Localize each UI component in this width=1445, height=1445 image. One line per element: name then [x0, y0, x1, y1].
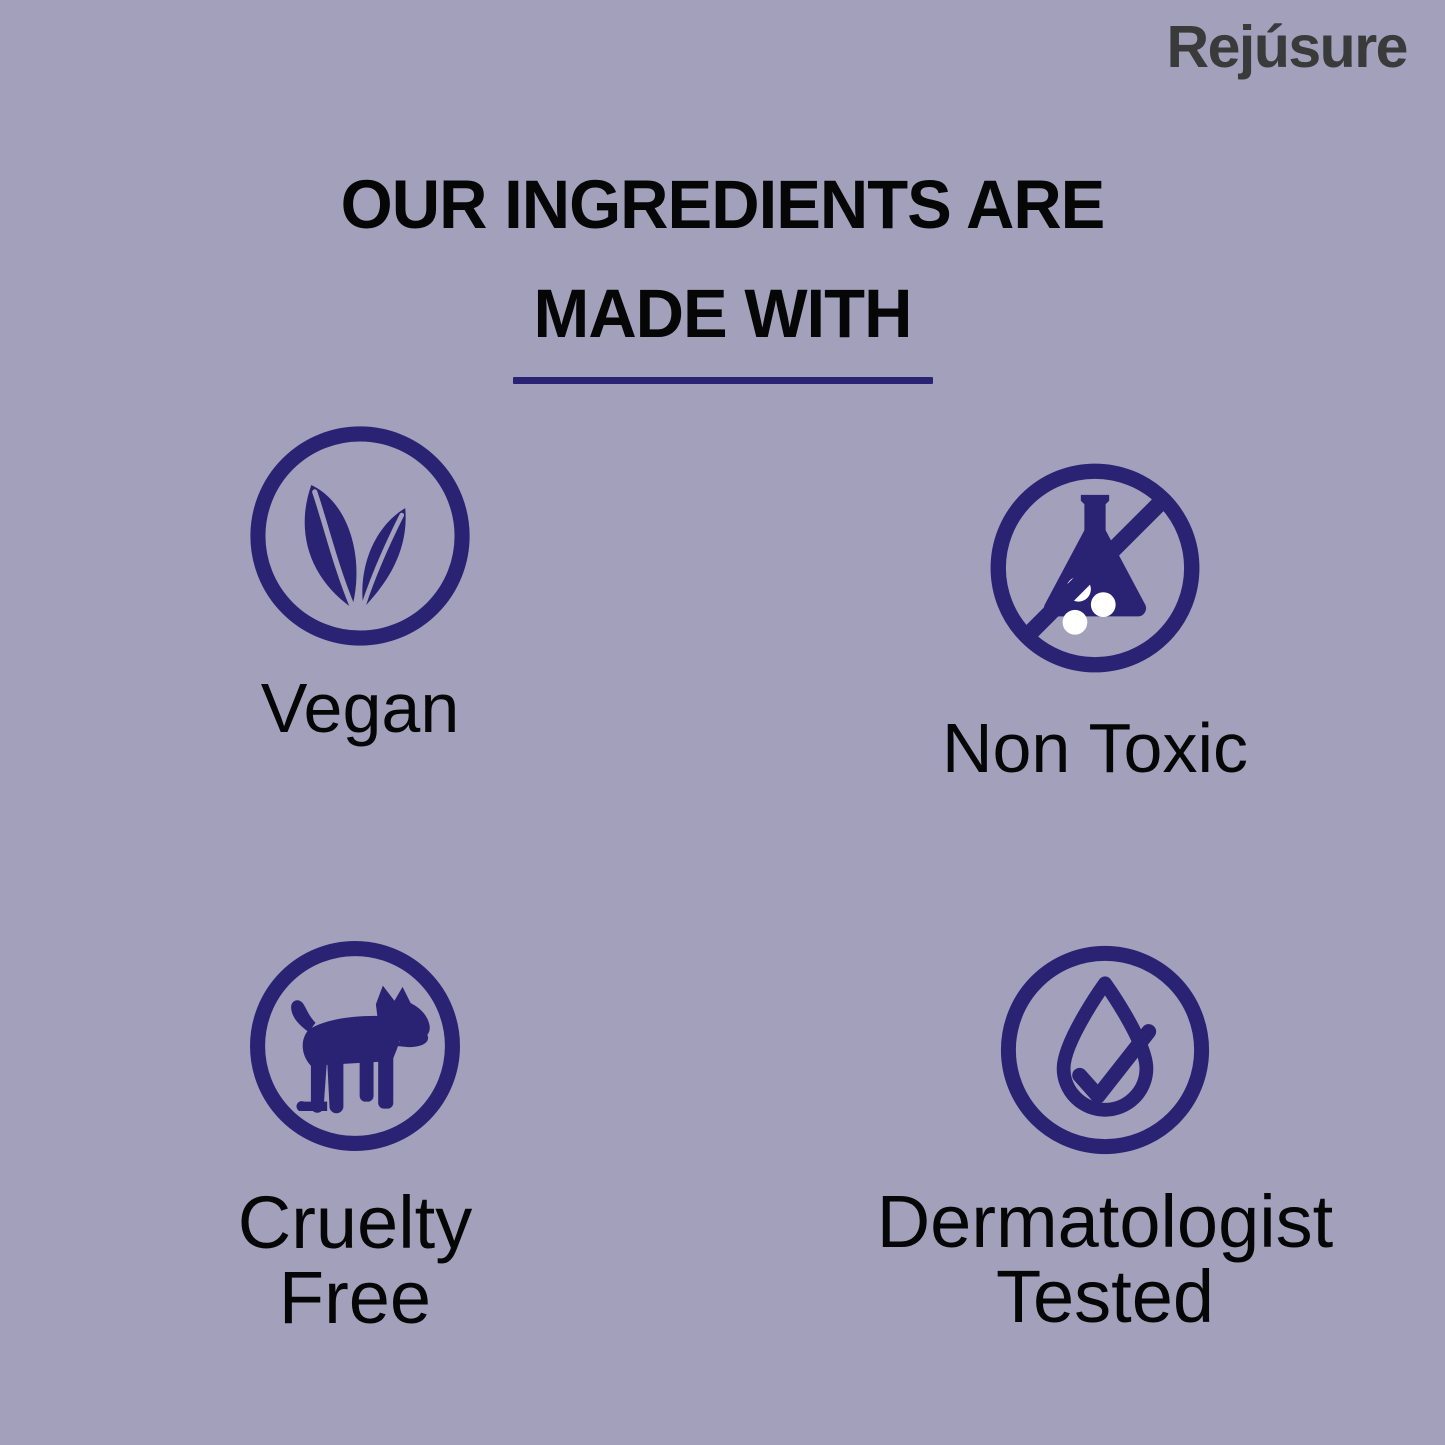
- badge-dermatologist-tested: Dermatologist Tested: [820, 935, 1390, 1335]
- no-chemical-flask-icon: [860, 450, 1330, 691]
- badge-non-toxic: Non Toxic: [860, 450, 1330, 784]
- dog-circle-icon: [135, 930, 575, 1167]
- headline-underline-divider: [513, 377, 933, 384]
- droplet-check-circle-icon: [820, 935, 1390, 1170]
- brand-logo: Rejúsure: [1167, 18, 1407, 77]
- headline-block: OUR INGREDIENTS ARE MADE WITH: [0, 170, 1445, 384]
- headline-line-1: OUR INGREDIENTS ARE: [22, 170, 1424, 239]
- leaves-circle-icon: [140, 420, 580, 657]
- badge-cruelty-free: Cruelty Free: [135, 930, 575, 1336]
- headline-line-2: MADE WITH: [22, 279, 1424, 348]
- badge-dermatologist-tested-label: Dermatologist Tested: [820, 1184, 1390, 1335]
- badge-grid: Vegan Non Toxic: [0, 400, 1445, 1445]
- badge-vegan-label: Vegan: [140, 673, 580, 744]
- badge-cruelty-free-label: Cruelty Free: [135, 1185, 575, 1336]
- badge-non-toxic-label: Non Toxic: [860, 713, 1330, 784]
- badge-vegan: Vegan: [140, 420, 580, 744]
